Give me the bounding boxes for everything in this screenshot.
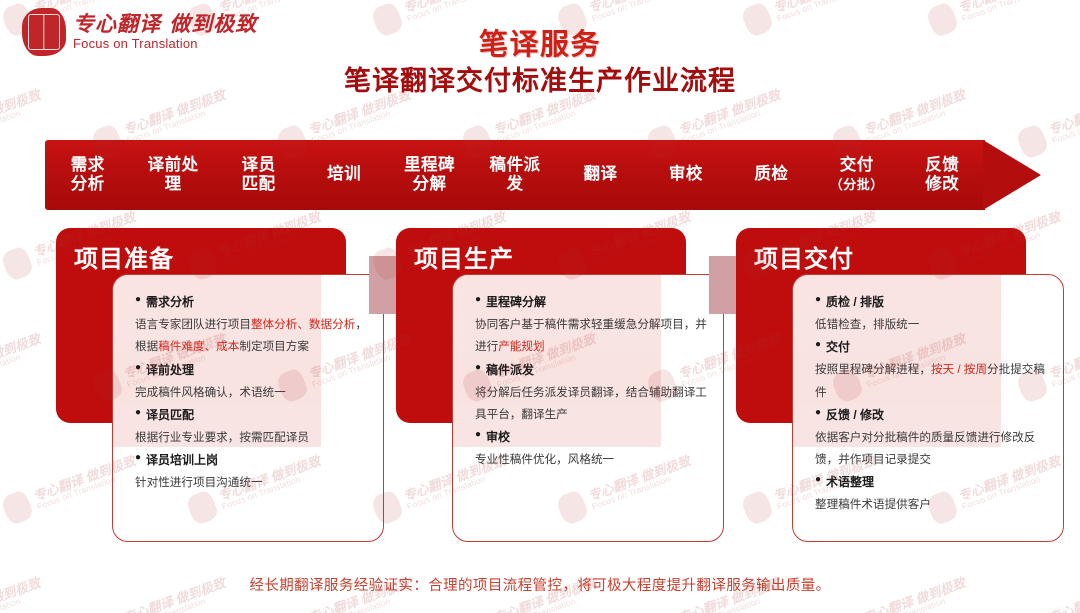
bullet-dot-icon: ● xyxy=(135,359,141,377)
bullet-heading-label: 术语整理 xyxy=(826,471,874,494)
phase-card-3: 项目交付●质检 / 排版低错检查，排版统一●交付按照里程碑分解进程，按天 / 按… xyxy=(736,228,1066,548)
bullet-heading: ●译员匹配 xyxy=(135,404,369,427)
bullet-body: 完成稿件风格确认，术语统一 xyxy=(135,382,369,404)
bullet-body-text: 根据行业专业要求，按需匹配译员 xyxy=(135,431,309,444)
watermark-text: 专心翻译 做到极致Focus on Translation xyxy=(0,332,45,390)
watermark-text: 专心翻译 做到极致Focus on Translation xyxy=(956,0,1065,24)
banner-step-2[interactable]: 译前处理 xyxy=(130,156,215,195)
process-banner: 需求分析译前处理译员匹配培训里程碑分解稿件派发翻译审校质检交付（分批）反馈修改 xyxy=(45,140,1040,210)
bullet-dot-icon: ● xyxy=(815,336,821,354)
banner-step-label: 反馈 xyxy=(925,156,959,174)
bullet-body-text: 语言专家团队进行项目 xyxy=(135,318,251,331)
bullet-heading: ●译员培训上岗 xyxy=(135,449,369,472)
banner-arrow-tip-icon xyxy=(983,140,1041,210)
banner-step-label: 审校 xyxy=(669,165,703,183)
banner-step-3[interactable]: 译员匹配 xyxy=(216,156,301,195)
banner-step-label: 分解 xyxy=(413,175,447,193)
bullet-heading-label: 里程碑分解 xyxy=(486,291,546,314)
bullet-heading: ●里程碑分解 xyxy=(475,291,709,314)
bullet-body: 整理稿件术语提供客户 xyxy=(815,494,1049,516)
bullet-heading: ●译前处理 xyxy=(135,359,369,382)
bullet-heading-label: 译员培训上岗 xyxy=(146,449,218,472)
banner-step-label: 译前处 xyxy=(148,156,199,174)
banner-step-label: 理 xyxy=(165,175,182,193)
card-body: ●需求分析语言专家团队进行项目整体分析、数据分析，根据稿件难度、成本制定项目方案… xyxy=(113,275,383,494)
bullet-heading-label: 译员匹配 xyxy=(146,404,194,427)
banner-step-label: 需求 xyxy=(71,156,105,174)
bullet-dot-icon: ● xyxy=(815,404,821,422)
watermark-name-en: Focus on Translation xyxy=(1051,101,1080,146)
bullet-body: 专业性稿件优化，风格统一 xyxy=(475,449,709,471)
watermark-name-en: Focus on Translation xyxy=(126,101,230,146)
bullet-dot-icon: ● xyxy=(475,359,481,377)
bullet-body-text: 低错检查，排版统一 xyxy=(815,318,919,331)
watermark-name-cn: 专心翻译 做到极致 xyxy=(771,0,877,15)
bullet-heading-label: 稿件派发 xyxy=(486,359,534,382)
bullet-heading: ●需求分析 xyxy=(135,291,369,314)
bullet-heading: ●反馈 / 修改 xyxy=(815,404,1049,427)
bullet-body: 将分解后任务派发译员翻译，结合辅助翻译工具平台，翻译生产 xyxy=(475,382,709,427)
banner-step-label: 培训 xyxy=(327,165,361,183)
bullet-heading: ●稿件派发 xyxy=(475,359,709,382)
bullet-heading: ●术语整理 xyxy=(815,471,1049,494)
banner-step-label: 交付 xyxy=(840,156,874,174)
banner-step-7[interactable]: 翻译 xyxy=(558,165,643,184)
card-title: 项目生产 xyxy=(414,239,514,274)
banner-step-label: （分批） xyxy=(830,177,884,192)
bullet-dot-icon: ● xyxy=(135,404,141,422)
bullet-body-text: 完成稿件风格确认，术语统一 xyxy=(135,386,286,399)
bullet-dot-icon: ● xyxy=(135,449,141,467)
banner-step-label: 发 xyxy=(506,175,523,193)
banner-step-6[interactable]: 稿件派发 xyxy=(472,156,557,195)
watermark-name-en: Focus on Translation xyxy=(776,0,880,24)
watermark-name-en: Focus on Translation xyxy=(0,101,45,146)
watermark-name-cn: 专心翻译 做到极致 xyxy=(956,0,1062,15)
bullet-dot-icon: ● xyxy=(815,471,821,489)
bullet-body: 针对性进行项目沟通统一 xyxy=(135,472,369,494)
bullet-body: 低错检查，排版统一 xyxy=(815,314,1049,336)
bullet-heading: ●质检 / 排版 xyxy=(815,291,1049,314)
watermark: 专心翻译 做到极致Focus on Translation xyxy=(0,328,46,404)
banner-step-label: 翻译 xyxy=(583,165,617,183)
banner-step-label: 分析 xyxy=(71,175,105,193)
bullet-body-text: 整理稿件术语提供客户 xyxy=(815,498,931,511)
banner-step-label: 里程碑 xyxy=(404,156,455,174)
bullet-body: 依据客户对分批稿件的质量反馈进行修改反馈，并作项目记录提交 xyxy=(815,427,1049,472)
bullet-body: 按照里程碑分解进程，按天 / 按周分批提交稿件 xyxy=(815,359,1049,404)
banner-step-8[interactable]: 审校 xyxy=(643,165,728,184)
watermark-text: 专心翻译 做到极致Focus on Translation xyxy=(401,0,510,24)
bullet-heading-label: 质检 / 排版 xyxy=(826,291,884,314)
bullet-body-text: 按照里程碑分解进程， xyxy=(815,363,931,376)
banner-step-label: 匹配 xyxy=(242,175,276,193)
watermark-text: 专心翻译 做到极致Focus on Translation xyxy=(771,0,880,24)
card-accent-block xyxy=(369,256,398,314)
slide-canvas: 专心翻译 做到极致 Focus on Translation 笔译服务 笔译翻译… xyxy=(0,0,1080,613)
bullet-heading-label: 反馈 / 修改 xyxy=(826,404,884,427)
bullet-dot-icon: ● xyxy=(135,291,141,309)
card-content-panel: ●需求分析语言专家团队进行项目整体分析、数据分析，根据稿件难度、成本制定项目方案… xyxy=(112,274,384,542)
watermark-name-cn: 专心翻译 做到极致 xyxy=(0,332,42,382)
watermark-name-en: Focus on Translation xyxy=(496,101,600,146)
bullet-heading: ●交付 xyxy=(815,336,1049,359)
banner-step-4[interactable]: 培训 xyxy=(301,165,386,184)
watermark-name-en: Focus on Translation xyxy=(406,0,510,24)
bullet-heading: ●审校 xyxy=(475,426,709,449)
bullet-body: 语言专家团队进行项目整体分析、数据分析，根据稿件难度、成本制定项目方案 xyxy=(135,314,369,359)
card-body: ●质检 / 排版低错检查，排版统一●交付按照里程碑分解进程，按天 / 按周分批提… xyxy=(793,275,1063,517)
bullet-body-highlight: 按天 / 按周 xyxy=(931,363,987,376)
banner-step-label: 译员 xyxy=(242,156,276,174)
watermark-name-en: Focus on Translation xyxy=(311,101,415,146)
title-sub: 笔译翻译交付标准生产作业流程 xyxy=(0,65,1080,99)
card-title: 项目准备 xyxy=(74,239,174,274)
banner-step-label: 修改 xyxy=(925,175,959,193)
page-title: 笔译服务 笔译翻译交付标准生产作业流程 xyxy=(0,30,1080,99)
banner-step-5[interactable]: 里程碑分解 xyxy=(387,156,472,195)
watermark-seal-icon xyxy=(0,489,35,526)
banner-step-11[interactable]: 反馈修改 xyxy=(900,156,985,195)
banner-step-9[interactable]: 质检 xyxy=(729,165,814,184)
bullet-dot-icon: ● xyxy=(475,291,481,309)
phase-card-1: 项目准备●需求分析语言专家团队进行项目整体分析、数据分析，根据稿件难度、成本制定… xyxy=(56,228,386,548)
card-content-panel: ●质检 / 排版低错检查，排版统一●交付按照里程碑分解进程，按天 / 按周分批提… xyxy=(792,274,1064,542)
banner-step-1[interactable]: 需求分析 xyxy=(45,156,130,195)
watermark-name-en: Focus on Translation xyxy=(961,0,1065,24)
card-title: 项目交付 xyxy=(754,239,854,274)
watermark-name-cn: 专心翻译 做到极致 xyxy=(401,0,507,15)
watermark-name-cn: 专心翻译 做到极致 xyxy=(586,0,692,15)
watermark-name-en: Focus on Translation xyxy=(591,0,695,24)
bullet-heading-label: 需求分析 xyxy=(146,291,194,314)
watermark-name-en: Focus on Translation xyxy=(681,101,785,146)
bullet-heading-label: 译前处理 xyxy=(146,359,194,382)
watermark-seal-icon xyxy=(0,245,35,282)
bullet-body: 根据行业专业要求，按需匹配译员 xyxy=(135,427,369,449)
bullet-body-text: 依据客户对分批稿件的质量反馈进行修改反馈，并作项目记录提交 xyxy=(815,431,1035,466)
bullet-body-highlight: 整体分析、数据分析 xyxy=(251,318,355,331)
footer-note: 经长期翻译服务经验证实：合理的项目流程管控，将可极大程度提升翻译服务输出质量。 xyxy=(0,574,1080,595)
title-main: 笔译服务 xyxy=(0,30,1080,62)
banner-step-label: 稿件派 xyxy=(489,156,540,174)
bullet-heading-label: 审校 xyxy=(486,426,510,449)
watermark-name-en: Focus on Translation xyxy=(0,345,45,390)
bullet-body-text: 针对性进行项目沟通统一 xyxy=(135,476,263,489)
bullet-body-highlight: 产能规划 xyxy=(498,340,544,353)
bullet-body-text: 专业性稿件优化，风格统一 xyxy=(475,453,614,466)
card-body: ●里程碑分解协同客户基于稿件需求轻重缓急分解项目，并进行产能规划●稿件派发将分解… xyxy=(453,275,723,471)
banner-step-10[interactable]: 交付（分批） xyxy=(814,156,899,195)
banner-step-label: 质检 xyxy=(754,165,788,183)
card-accent-block xyxy=(709,256,738,314)
bullet-body: 协同客户基于稿件需求轻重缓急分解项目，并进行产能规划 xyxy=(475,314,709,359)
watermark-text: 专心翻译 做到极致Focus on Translation xyxy=(586,0,695,24)
bullet-body-highlight: 稿件难度、成本 xyxy=(158,340,239,353)
bullet-dot-icon: ● xyxy=(475,426,481,444)
banner-step-list: 需求分析译前处理译员匹配培训里程碑分解稿件派发翻译审校质检交付（分批）反馈修改 xyxy=(45,140,985,210)
bullet-heading-label: 交付 xyxy=(826,336,850,359)
phase-card-2: 项目生产●里程碑分解协同客户基于稿件需求轻重缓急分解项目，并进行产能规划●稿件派… xyxy=(396,228,726,548)
bullet-body-text: 制定项目方案 xyxy=(239,340,309,353)
bullet-dot-icon: ● xyxy=(815,291,821,309)
watermark-name-en: Focus on Translation xyxy=(866,101,970,146)
bullet-body-text: 将分解后任务派发译员翻译，结合辅助翻译工具平台，翻译生产 xyxy=(475,386,707,421)
card-content-panel: ●里程碑分解协同客户基于稿件需求轻重缓急分解项目，并进行产能规划●稿件派发将分解… xyxy=(452,274,724,542)
